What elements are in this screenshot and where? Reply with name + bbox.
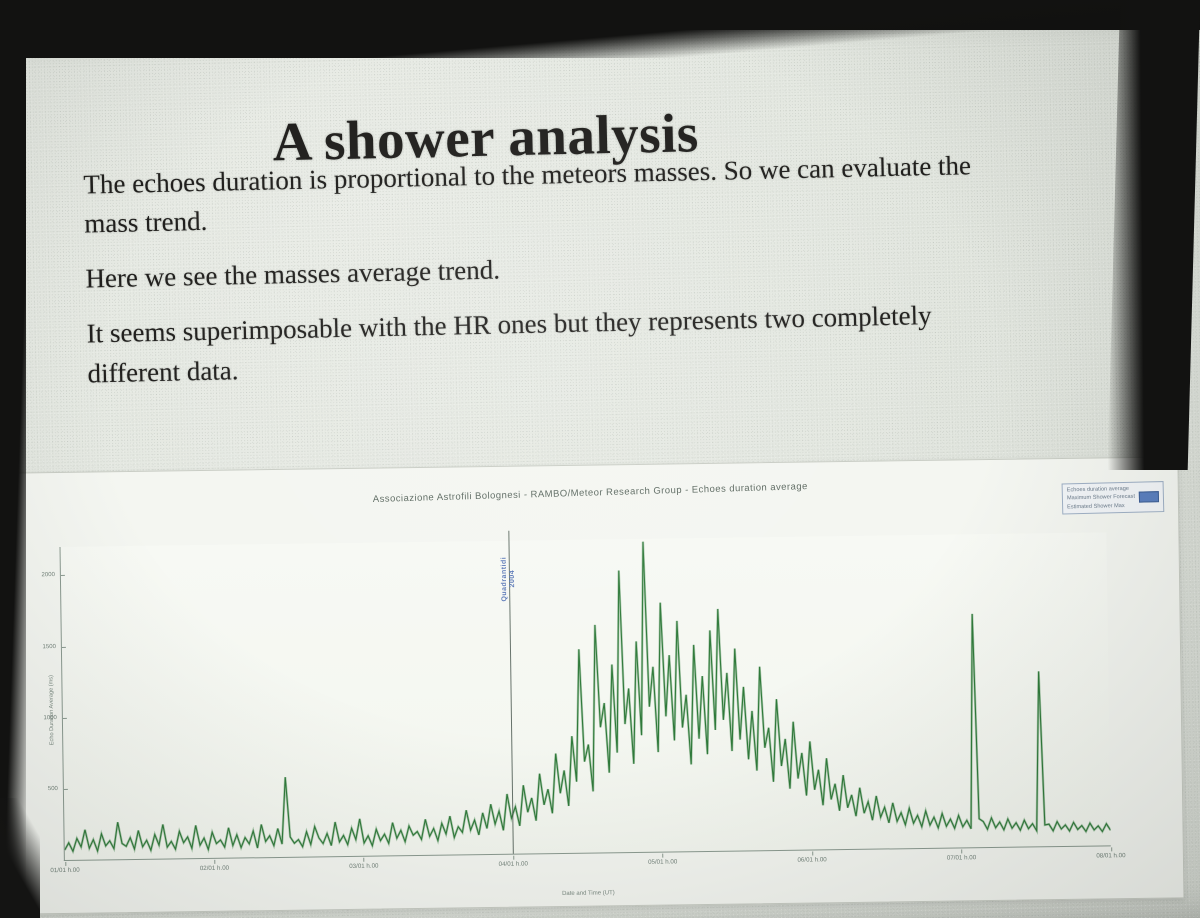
x-tick-7: 08/01 h.00 bbox=[1096, 852, 1125, 859]
annotation-quadrantidi: Quadrantidi 2004 bbox=[501, 557, 518, 602]
paragraph-1: The echoes duration is proportional to t… bbox=[83, 145, 1004, 243]
projected-slide: A shower analysis The echoes duration is… bbox=[0, 0, 1200, 918]
chart-figure: Associazione Astrofili Bolognesi - RAMBO… bbox=[1, 456, 1184, 914]
plot-area: Echo Duration Average (ms) 5001000150020… bbox=[60, 532, 1111, 861]
x-tick-4: 05/01 h.00 bbox=[648, 858, 677, 865]
paragraph-3: It seems superimposable with the HR ones… bbox=[86, 294, 1027, 393]
x-axis-label: Date and Time (UT) bbox=[65, 883, 1111, 904]
chart-title: Associazione Astrofili Bolognesi - RAMBO… bbox=[3, 470, 1178, 516]
x-tick-6: 07/01 h.00 bbox=[947, 854, 976, 861]
chart-legend: Echoes duration average Maximum Shower F… bbox=[1061, 481, 1164, 515]
series-echoes-duration-average bbox=[61, 532, 1111, 860]
y-tick-2: 1500 bbox=[42, 644, 61, 650]
slide-body: The echoes duration is proportional to t… bbox=[83, 144, 1088, 409]
y-tick-0: 500 bbox=[48, 786, 64, 792]
paragraph-2: Here we see the masses average trend. bbox=[85, 238, 1086, 299]
y-tick-3: 2000 bbox=[42, 572, 61, 578]
x-tick-1: 02/01 h.00 bbox=[200, 865, 229, 872]
x-tick-3: 04/01 h.00 bbox=[499, 860, 528, 867]
y-axis-label: Echo Duration Average (ms) bbox=[48, 675, 55, 745]
photo-frame: A shower analysis The echoes duration is… bbox=[0, 0, 1200, 918]
x-tick-0: 01/01 h.00 bbox=[50, 867, 79, 874]
y-tick-1: 1000 bbox=[43, 715, 62, 721]
x-tick-5: 06/01 h.00 bbox=[797, 856, 826, 863]
legend-swatch bbox=[1139, 491, 1159, 502]
legend-item-2: Estimated Shower Max bbox=[1067, 502, 1135, 512]
x-tick-2: 03/01 h.00 bbox=[349, 863, 378, 870]
